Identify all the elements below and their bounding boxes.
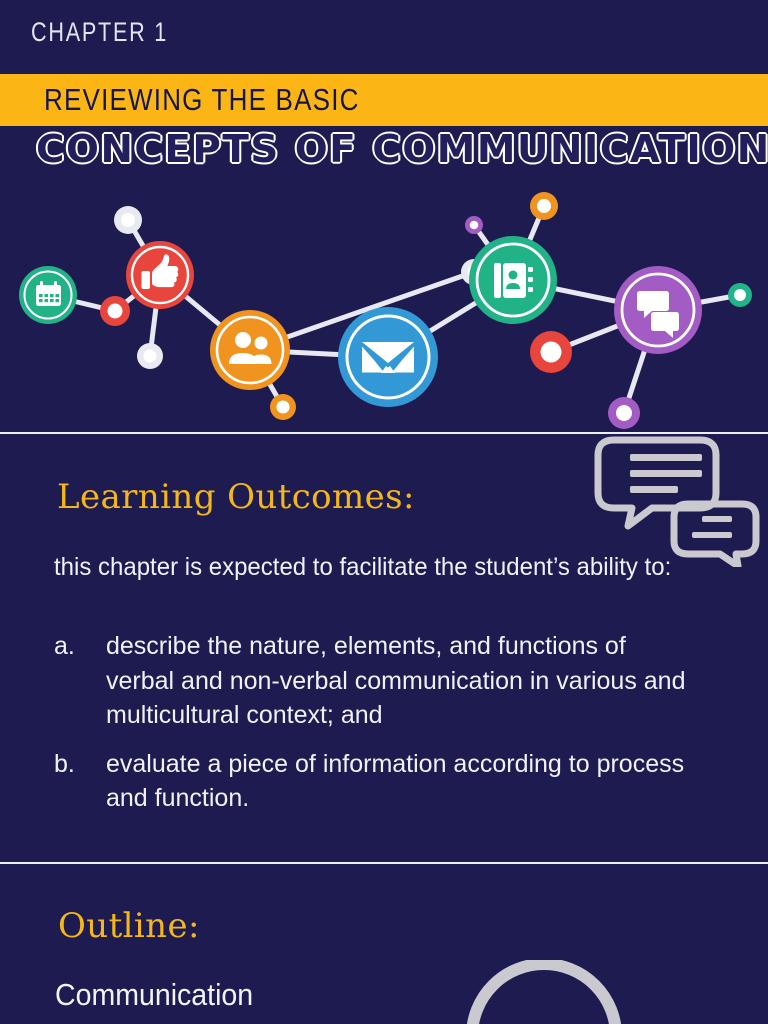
learning-outcomes-list: a. describe the nature, elements, and fu… — [54, 629, 714, 830]
slide-page: CHAPTER 1 REVIEWING THE BASIC CONCEPTS O… — [0, 0, 768, 1024]
chat-bubbles-outline-decoration — [592, 432, 762, 567]
node-envelope — [338, 307, 438, 407]
list-item-text: describe the nature, elements, and funct… — [106, 629, 691, 733]
subtitle-text: REVIEWING THE BASIC — [44, 84, 360, 117]
chapter-band: CHAPTER 1 — [0, 0, 768, 74]
bubble-text-lines — [630, 454, 732, 538]
outline-section: Outline: Communication — [0, 864, 768, 1024]
network-illustration — [0, 178, 768, 432]
network-svg — [0, 178, 768, 432]
list-item-text: evaluate a piece of information accordin… — [106, 747, 691, 816]
learning-outcomes-intro: this chapter is expected to facilitate t… — [54, 551, 676, 585]
learning-outcomes-heading: Learning Outcomes: — [57, 480, 415, 514]
page-title: CONCEPTS OF COMMUNICATION — [36, 130, 750, 168]
chapter-label: CHAPTER 1 — [31, 19, 168, 46]
node-chat-bubbles — [614, 266, 702, 354]
circle-bar-outline-decoration — [446, 960, 642, 1024]
node-people — [210, 310, 290, 390]
list-item: b. evaluate a piece of information accor… — [54, 747, 714, 816]
outline-heading: Outline: — [58, 909, 200, 943]
outline-first-item: Communication — [55, 977, 359, 1014]
node-thumbs-up — [126, 241, 194, 309]
subtitle-band: REVIEWING THE BASIC — [0, 74, 768, 126]
node-contact-book — [469, 236, 557, 324]
learning-outcomes-section: Learning Outcomes: this chapter is expec… — [0, 434, 768, 862]
list-item-marker: a. — [54, 629, 106, 733]
envelope-icon — [362, 342, 414, 373]
list-item-marker: b. — [54, 747, 106, 816]
node-calendar — [19, 266, 77, 324]
list-item: a. describe the nature, elements, and fu… — [54, 629, 714, 733]
